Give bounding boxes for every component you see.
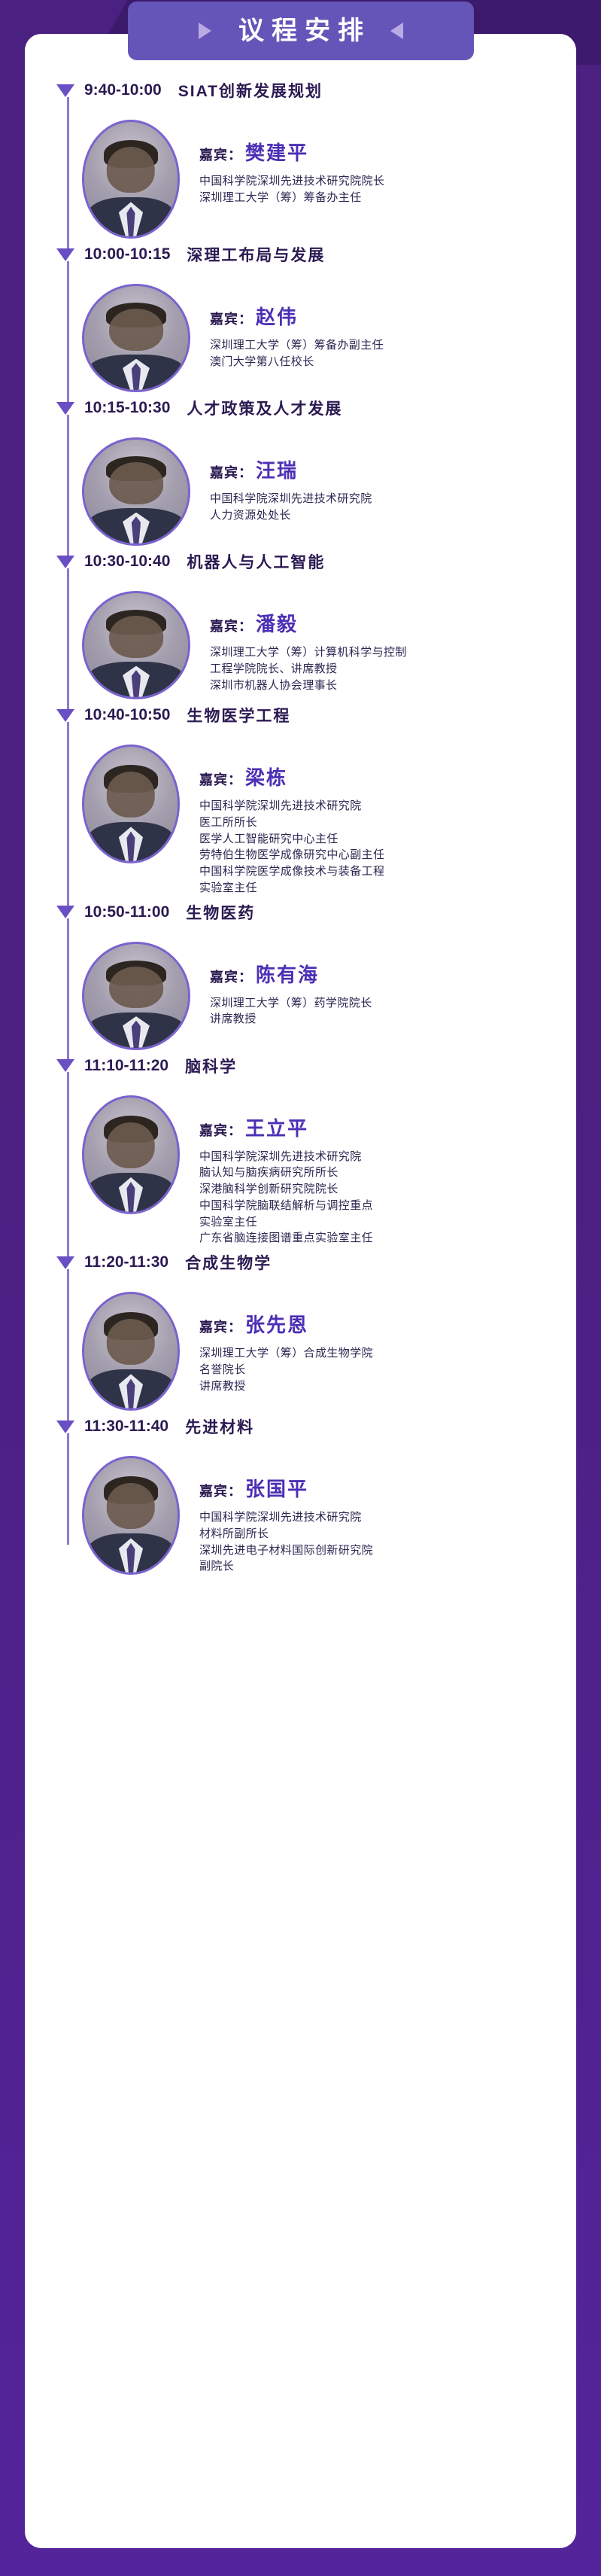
speaker-info: 嘉宾：陈有海深圳理工大学（筹）药学院院长讲席教授: [190, 942, 372, 1028]
guest-title-line: 深圳理工大学（筹）合成生物学院: [199, 1345, 373, 1362]
guest-title-line: 实验室主任: [199, 1214, 373, 1231]
session-topic: 先进材料: [185, 1415, 254, 1438]
guest-line: 嘉宾：樊建平: [199, 138, 384, 166]
session-time: 10:00-10:15: [84, 245, 170, 263]
guest-label: 嘉宾：: [199, 769, 242, 789]
page-title: 议程安排: [231, 18, 371, 44]
session-time: 10:30-10:40: [84, 553, 170, 571]
guest-label: 嘉宾：: [199, 1120, 242, 1140]
session-topic: SIAT创新发展规划: [178, 79, 323, 102]
session-time: 11:10-11:20: [84, 1057, 168, 1075]
guest-label: 嘉宾：: [199, 1317, 242, 1336]
session-body: 嘉宾：樊建平中国科学院深圳先进技术研究院院长深圳理工大学（筹）筹备办主任: [25, 109, 576, 239]
session-body: 嘉宾：赵伟深圳理工大学（筹）筹备办副主任澳门大学第八任校长: [25, 273, 576, 392]
session-header: 11:30-11:40先进材料: [25, 1415, 576, 1438]
session-topic: 生物医学工程: [187, 704, 290, 726]
guest-line: 嘉宾：王立平: [199, 1113, 373, 1141]
session-time: 10:50-11:00: [84, 903, 169, 921]
session-item[interactable]: 10:30-10:40机器人与人工智能嘉宾：潘毅深圳理工大学（筹）计算机科学与控…: [25, 550, 576, 699]
guest-title-line: 副院长: [199, 1558, 373, 1575]
speaker-avatar: [82, 744, 180, 863]
speaker-info: 嘉宾：汪瑞中国科学院深圳先进技术研究院人力资源处处长: [190, 437, 372, 524]
session-time: 9:40-10:00: [84, 81, 162, 99]
guest-title-line: 中国科学院脑联结解析与调控重点: [199, 1198, 373, 1214]
triangle-left-icon: [390, 23, 403, 39]
speaker-avatar: [82, 591, 190, 699]
guest-title-line: 中国科学院医学成像技术与装备工程: [199, 863, 384, 880]
session-header: 10:15-10:30人才政策及人才发展: [25, 397, 576, 419]
triangle-right-icon: [199, 23, 211, 39]
guest-title-line: 澳门大学第八任校长: [210, 354, 384, 370]
guest-title-line: 医工所所长: [199, 815, 384, 831]
guest-name: 赵伟: [256, 302, 298, 330]
guest-title-line: 实验室主任: [199, 880, 384, 897]
speaker-info: 嘉宾：樊建平中国科学院深圳先进技术研究院院长深圳理工大学（筹）筹备办主任: [180, 120, 384, 206]
guest-name: 王立平: [245, 1113, 308, 1141]
guest-title-line: 深圳理工大学（筹）筹备办主任: [199, 190, 384, 206]
session-item[interactable]: 10:15-10:30人才政策及人才发展嘉宾：汪瑞中国科学院深圳先进技术研究院人…: [25, 397, 576, 546]
guest-name: 潘毅: [256, 609, 298, 637]
speaker-avatar: [82, 942, 190, 1050]
speaker-avatar: [82, 437, 190, 546]
agenda-card: 9:40-10:00SIAT创新发展规划嘉宾：樊建平中国科学院深圳先进技术研究院…: [25, 34, 576, 2548]
guest-line: 嘉宾：张国平: [199, 1474, 373, 1502]
guest-name: 汪瑞: [256, 455, 298, 483]
speaker-info: 嘉宾：张先恩深圳理工大学（筹）合成生物学院名誉院长讲席教授: [180, 1292, 373, 1394]
speaker-info: 嘉宾：张国平中国科学院深圳先进技术研究院材料所副所长深圳先进电子材料国际创新研究…: [180, 1456, 373, 1575]
guest-label: 嘉宾：: [199, 145, 242, 164]
triangle-down-marker-icon: [56, 709, 74, 722]
session-item[interactable]: 9:40-10:00SIAT创新发展规划嘉宾：樊建平中国科学院深圳先进技术研究院…: [25, 79, 576, 239]
guest-label: 嘉宾：: [199, 1481, 242, 1500]
speaker-info: 嘉宾：王立平中国科学院深圳先进技术研究院脑认知与脑疾病研究所所长深港脑科学创新研…: [180, 1095, 373, 1247]
session-body: 嘉宾：王立平中国科学院深圳先进技术研究院脑认知与脑疾病研究所所长深港脑科学创新研…: [25, 1085, 576, 1247]
session-topic: 生物医药: [186, 901, 255, 924]
guest-name: 陈有海: [256, 960, 319, 988]
speaker-avatar: [82, 1095, 180, 1214]
session-body: 嘉宾：张先恩深圳理工大学（筹）合成生物学院名誉院长讲席教授: [25, 1281, 576, 1411]
guest-title-line: 名誉院长: [199, 1362, 373, 1378]
session-item[interactable]: 10:00-10:15深理工布局与发展嘉宾：赵伟深圳理工大学（筹）筹备办副主任澳…: [25, 243, 576, 392]
guest-title-line: 中国科学院深圳先进技术研究院院长: [199, 173, 384, 190]
guest-title-line: 讲席教授: [199, 1378, 373, 1395]
guest-title-line: 深圳先进电子材料国际创新研究院: [199, 1542, 373, 1559]
guest-name: 梁栋: [245, 763, 287, 790]
session-header: 10:40-10:50生物医学工程: [25, 704, 576, 726]
speaker-info: 嘉宾：赵伟深圳理工大学（筹）筹备办副主任澳门大学第八任校长: [190, 284, 384, 370]
session-body: 嘉宾：张国平中国科学院深圳先进技术研究院材料所副所长深圳先进电子材料国际创新研究…: [25, 1445, 576, 1575]
session-header: 11:10-11:20脑科学: [25, 1055, 576, 1077]
speaker-info: 嘉宾：梁栋中国科学院深圳先进技术研究院医工所所长医学人工智能研究中心主任劳特伯生…: [180, 744, 384, 897]
guest-title-line: 劳特伯生物医学成像研究中心副主任: [199, 847, 384, 863]
guest-line: 嘉宾：张先恩: [199, 1310, 373, 1338]
session-header: 10:00-10:15深理工布局与发展: [25, 243, 576, 266]
session-body: 嘉宾：梁栋中国科学院深圳先进技术研究院医工所所长医学人工智能研究中心主任劳特伯生…: [25, 734, 576, 897]
session-header: 9:40-10:00SIAT创新发展规划: [25, 79, 576, 102]
guest-title-line: 材料所副所长: [199, 1526, 373, 1542]
guest-label: 嘉宾：: [210, 967, 253, 986]
guest-name: 张国平: [245, 1474, 308, 1502]
triangle-down-marker-icon: [56, 402, 74, 415]
triangle-down-marker-icon: [56, 1059, 74, 1072]
session-time: 11:20-11:30: [84, 1253, 168, 1271]
triangle-down-marker-icon: [56, 906, 74, 918]
session-item[interactable]: 10:50-11:00生物医药嘉宾：陈有海深圳理工大学（筹）药学院院长讲席教授: [25, 901, 576, 1050]
session-item[interactable]: 11:10-11:20脑科学嘉宾：王立平中国科学院深圳先进技术研究院脑认知与脑疾…: [25, 1055, 576, 1247]
guest-title-line: 中国科学院深圳先进技术研究院: [199, 1149, 373, 1165]
session-body: 嘉宾：汪瑞中国科学院深圳先进技术研究院人力资源处处长: [25, 427, 576, 546]
speaker-avatar: [82, 1456, 180, 1575]
guest-line: 嘉宾：潘毅: [210, 609, 407, 637]
agenda-page: 议程安排 9:40-10:00SIAT创新发展规划嘉宾：樊建平中国科学院深圳先进…: [0, 0, 601, 2576]
guest-title-line: 脑认知与脑疾病研究所所长: [199, 1165, 373, 1181]
session-header: 10:50-11:00生物医药: [25, 901, 576, 924]
speaker-avatar: [82, 284, 190, 392]
session-item[interactable]: 10:40-10:50生物医学工程嘉宾：梁栋中国科学院深圳先进技术研究院医工所所…: [25, 704, 576, 897]
guest-title-line: 中国科学院深圳先进技术研究院: [210, 491, 372, 507]
guest-name: 张先恩: [245, 1310, 308, 1338]
guest-title-line: 深港脑科学创新研究院院长: [199, 1181, 373, 1198]
session-header: 10:30-10:40机器人与人工智能: [25, 550, 576, 573]
guest-label: 嘉宾：: [210, 309, 253, 328]
triangle-down-marker-icon: [56, 1420, 74, 1433]
guest-title-line: 讲席教授: [210, 1011, 372, 1028]
guest-line: 嘉宾：赵伟: [210, 302, 384, 330]
guest-title-line: 人力资源处处长: [210, 507, 372, 524]
triangle-down-marker-icon: [56, 556, 74, 568]
timeline: 9:40-10:00SIAT创新发展规划嘉宾：樊建平中国科学院深圳先进技术研究院…: [25, 34, 576, 1575]
speaker-info: 嘉宾：潘毅深圳理工大学（筹）计算机科学与控制工程学院院长、讲席教授深圳市机器人协…: [190, 591, 407, 693]
triangle-down-marker-icon: [56, 84, 74, 97]
guest-title-line: 深圳市机器人协会理事长: [210, 677, 407, 694]
session-topic: 脑科学: [185, 1055, 237, 1077]
session-time: 10:40-10:50: [84, 706, 170, 724]
guest-title-line: 深圳理工大学（筹）药学院院长: [210, 995, 372, 1012]
guest-title-line: 广东省脑连接图谱重点实验室主任: [199, 1230, 373, 1247]
triangle-down-marker-icon: [56, 1256, 74, 1269]
session-topic: 合成生物学: [185, 1251, 272, 1274]
guest-title-line: 深圳理工大学（筹）筹备办副主任: [210, 337, 384, 354]
guest-title-line: 中国科学院深圳先进技术研究院: [199, 798, 384, 815]
guest-title-line: 深圳理工大学（筹）计算机科学与控制: [210, 644, 407, 661]
session-time: 10:15-10:30: [84, 399, 170, 417]
guest-line: 嘉宾：汪瑞: [210, 455, 372, 483]
guest-label: 嘉宾：: [210, 462, 253, 482]
session-list: 9:40-10:00SIAT创新发展规划嘉宾：樊建平中国科学院深圳先进技术研究院…: [25, 79, 576, 1575]
guest-line: 嘉宾：梁栋: [199, 763, 384, 790]
guest-line: 嘉宾：陈有海: [210, 960, 372, 988]
session-body: 嘉宾：潘毅深圳理工大学（筹）计算机科学与控制工程学院院长、讲席教授深圳市机器人协…: [25, 580, 576, 699]
guest-title-line: 医学人工智能研究中心主任: [199, 831, 384, 848]
session-body: 嘉宾：陈有海深圳理工大学（筹）药学院院长讲席教授: [25, 931, 576, 1050]
speaker-avatar: [82, 120, 180, 239]
agenda-banner: 议程安排: [128, 2, 474, 60]
triangle-down-marker-icon: [56, 248, 74, 261]
session-item[interactable]: 11:20-11:30合成生物学嘉宾：张先恩深圳理工大学（筹）合成生物学院名誉院…: [25, 1251, 576, 1411]
session-time: 11:30-11:40: [84, 1417, 168, 1436]
guest-title-line: 工程学院院长、讲席教授: [210, 661, 407, 677]
session-item[interactable]: 11:30-11:40先进材料嘉宾：张国平中国科学院深圳先进技术研究院材料所副所…: [25, 1415, 576, 1575]
guest-title-line: 中国科学院深圳先进技术研究院: [199, 1509, 373, 1526]
guest-name: 樊建平: [245, 138, 308, 166]
session-topic: 深理工布局与发展: [187, 243, 325, 266]
session-topic: 机器人与人工智能: [187, 550, 325, 573]
speaker-avatar: [82, 1292, 180, 1411]
session-topic: 人才政策及人才发展: [187, 397, 342, 419]
session-header: 11:20-11:30合成生物学: [25, 1251, 576, 1274]
guest-label: 嘉宾：: [210, 616, 253, 635]
